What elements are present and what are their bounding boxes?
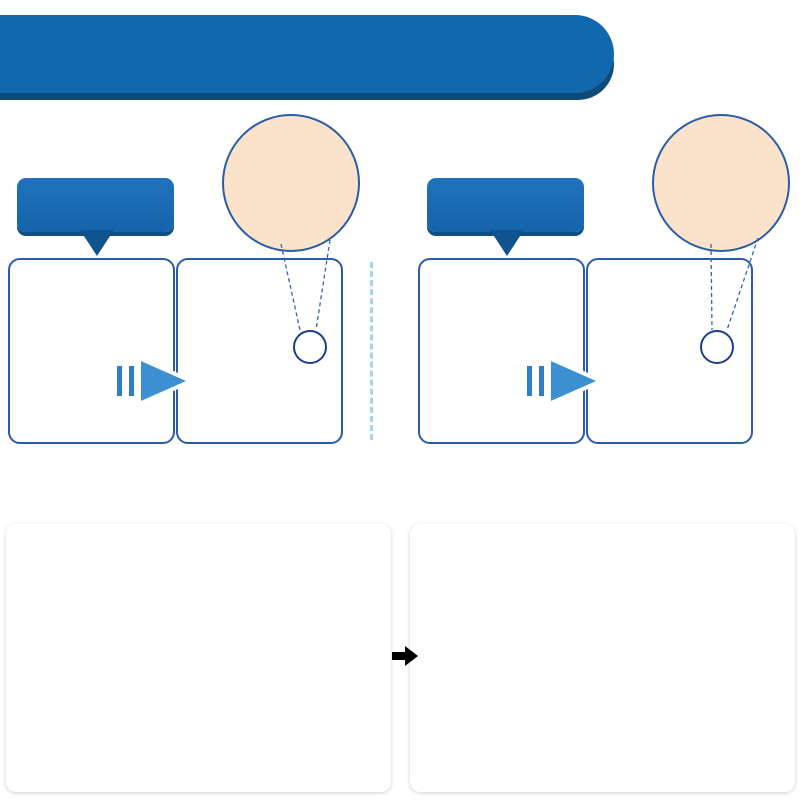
badge-non-dissolving-tail bbox=[80, 230, 114, 256]
photo-after bbox=[410, 524, 795, 792]
photo-before bbox=[6, 524, 391, 792]
badge-dissolving-tail bbox=[490, 230, 524, 256]
magnifier-focus-circle-left bbox=[293, 330, 327, 364]
magnifier-left bbox=[222, 114, 360, 252]
header-banner bbox=[0, 15, 614, 93]
badge-dissolving bbox=[427, 178, 584, 232]
section-divider bbox=[370, 262, 373, 440]
badge-non-dissolving bbox=[17, 178, 174, 232]
magnifier-right bbox=[652, 114, 790, 252]
photo-transition-arrow bbox=[392, 645, 418, 667]
process-arrow-right bbox=[523, 342, 605, 420]
magnifier-focus-circle-right bbox=[700, 330, 734, 364]
process-arrow-left bbox=[113, 342, 195, 420]
